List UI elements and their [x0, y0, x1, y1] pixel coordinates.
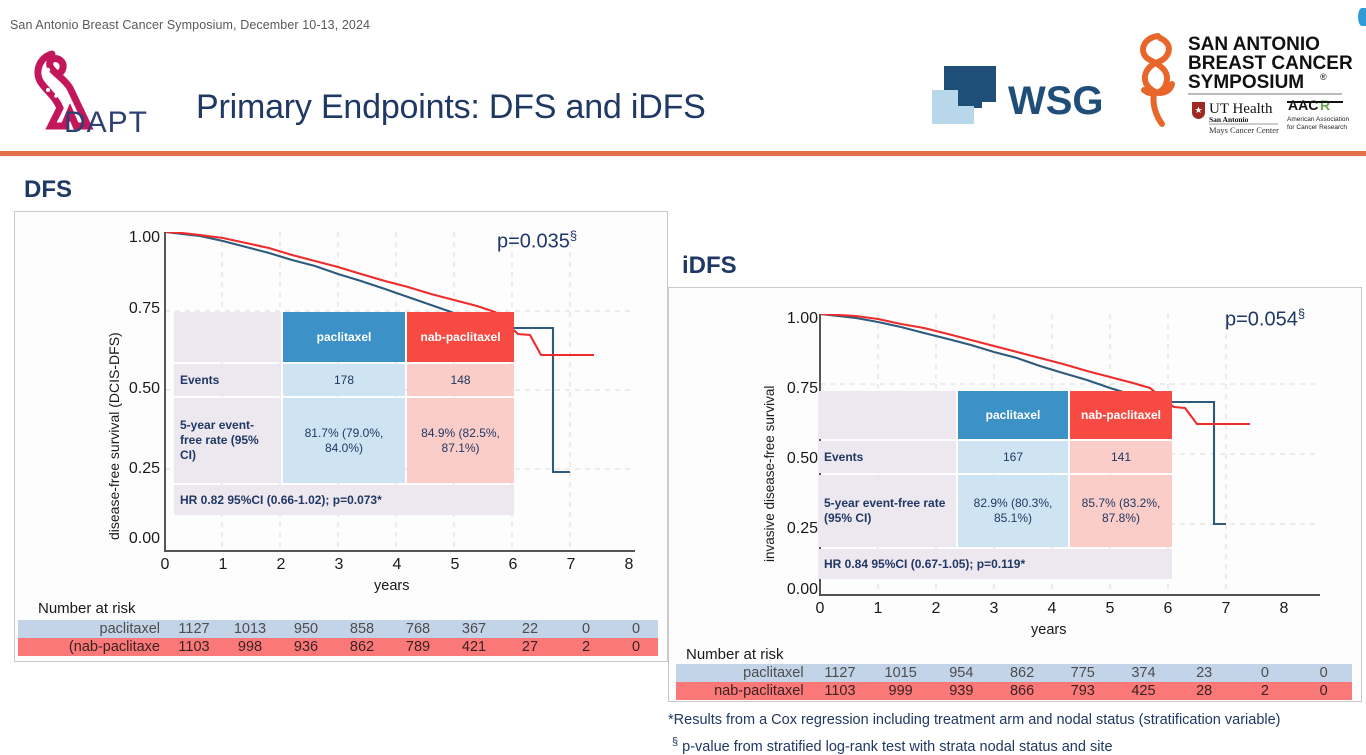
- svg-text:DAPT: DAPT: [64, 106, 148, 139]
- dfs-row-label-5yr-rate: 5-year event-free rate (95% CI): [174, 398, 281, 483]
- dfs-risk-nab-8: 0: [614, 638, 658, 656]
- idfs-pvalue: p=0.054§: [1225, 306, 1305, 332]
- idfs-risk-nab-7: 2: [1235, 682, 1296, 700]
- idfs-hr-row: HR 0.84 95%CI (0.67-1.05); p=0.119*: [818, 549, 1172, 579]
- dfs-risk-pac-8: 0: [614, 620, 658, 638]
- dfs-risk-pac-0: 1127: [166, 620, 222, 638]
- dfs-risk-nab-0: 1103: [166, 638, 222, 656]
- table-row: HR 0.84 95%CI (0.67-1.05); p=0.119*: [818, 549, 1172, 579]
- idfs-risk-nab-6: 28: [1174, 682, 1235, 700]
- dfs-risk-pac-5: 367: [446, 620, 502, 638]
- dfs-number-at-risk-title: Number at risk: [38, 600, 136, 617]
- idfs-xtick-4: 4: [1040, 600, 1064, 618]
- svg-text:R: R: [1320, 97, 1330, 113]
- dfs-x-axis-label: years: [374, 578, 409, 594]
- idfs-xtick-2: 2: [924, 600, 948, 618]
- dfs-hr-row: HR 0.82 95%CI (0.66-1.02); p=0.073*: [174, 485, 514, 515]
- svg-text:BREAST CANCER: BREAST CANCER: [1188, 53, 1353, 74]
- dfs-risk-pac-3: 858: [334, 620, 390, 638]
- dfs-risk-pac-7: 0: [558, 620, 614, 638]
- dfs-stats-table: paclitaxel nab-paclitaxel Events 178 148…: [172, 310, 516, 517]
- idfs-xtick-5: 5: [1098, 600, 1122, 618]
- idfs-xtick-3: 3: [982, 600, 1006, 618]
- idfs-header-nab-paclitaxel: nab-paclitaxel: [1070, 391, 1172, 439]
- idfs-ytick-0.00: 0.00: [770, 581, 818, 599]
- idfs-x-axis-line: [819, 594, 1320, 596]
- dfs-ytick-0.25: 0.25: [110, 460, 160, 478]
- idfs-corner-cell: [818, 391, 956, 439]
- wsg-logo: WSG: [930, 62, 1110, 137]
- dfs-risk-pac-4: 768: [390, 620, 446, 638]
- table-row: 5-year event-free rate (95% CI) 81.7% (7…: [174, 398, 514, 483]
- dfs-ytick-0.75: 0.75: [110, 300, 160, 318]
- idfs-risk-pac-4: 775: [1052, 664, 1113, 682]
- dfs-y-axis-label: disease-free survival (DCIS-DFS): [106, 332, 122, 540]
- table-row: nab-paclitaxel 1103 999 939 866 793 425 …: [676, 682, 1352, 700]
- idfs-risk-label-nab: nab-paclitaxel: [676, 682, 810, 700]
- idfs-risk-pac-7: 0: [1235, 664, 1296, 682]
- table-row: paclitaxel 1127 1013 950 858 768 367 22 …: [18, 620, 658, 638]
- idfs-row-label-events: Events: [818, 441, 956, 473]
- dfs-5yr-paclitaxel: 81.7% (79.0%, 84.0%): [283, 398, 405, 483]
- idfs-risk-pac-2: 954: [931, 664, 992, 682]
- idfs-risk-nab-4: 793: [1052, 682, 1113, 700]
- table-row: paclitaxel nab-paclitaxel: [818, 391, 1172, 439]
- dfs-ytick-0.00: 0.00: [110, 530, 160, 548]
- table-row: (nab-paclitaxe 1103 998 936 862 789 421 …: [18, 638, 658, 656]
- conference-line: San Antonio Breast Cancer Symposium, Dec…: [10, 18, 370, 32]
- idfs-xtick-8: 8: [1272, 600, 1296, 618]
- dfs-risk-pac-2: 950: [278, 620, 334, 638]
- idfs-xtick-1: 1: [866, 600, 890, 618]
- idfs-risk-label-paclitaxel: paclitaxel: [676, 664, 810, 682]
- table-row: 5-year event-free rate (95% CI) 82.9% (8…: [818, 475, 1172, 547]
- idfs-risk-nab-1: 999: [870, 682, 931, 700]
- dfs-risk-nab-1: 998: [222, 638, 278, 656]
- table-row: paclitaxel nab-paclitaxel: [174, 312, 514, 362]
- idfs-risk-pac-6: 23: [1174, 664, 1235, 682]
- idfs-ytick-0.25: 0.25: [770, 520, 818, 538]
- dfs-events-paclitaxel: 178: [283, 364, 405, 396]
- footnote-logrank: § p-value from stratified log-rank test …: [672, 736, 1113, 755]
- header-divider: [0, 151, 1366, 156]
- svg-text:San Antonio: San Antonio: [1209, 115, 1249, 124]
- dfs-number-at-risk-table: paclitaxel 1127 1013 950 858 768 367 22 …: [18, 620, 658, 656]
- dfs-risk-pac-1: 1013: [222, 620, 278, 638]
- idfs-events-nab: 141: [1070, 441, 1172, 473]
- dfs-risk-nab-6: 27: [502, 638, 558, 656]
- svg-text:American Association: American Association: [1287, 116, 1350, 123]
- table-row: Events 178 148: [174, 364, 514, 396]
- idfs-stats-table: paclitaxel nab-paclitaxel Events 167 141…: [816, 389, 1174, 581]
- dfs-xtick-7: 7: [559, 556, 583, 574]
- svg-text:for Cancer Research: for Cancer Research: [1287, 124, 1347, 131]
- dfs-events-nab: 148: [407, 364, 514, 396]
- adapt-logo: DAPT: [18, 50, 158, 145]
- table-row: Events 167 141: [818, 441, 1172, 473]
- dfs-risk-nab-2: 936: [278, 638, 334, 656]
- dfs-row-label-events: Events: [174, 364, 281, 396]
- idfs-events-paclitaxel: 167: [958, 441, 1068, 473]
- idfs-xtick-7: 7: [1214, 600, 1238, 618]
- svg-text:★: ★: [1195, 105, 1203, 115]
- idfs-ytick-0.75: 0.75: [770, 380, 818, 398]
- dfs-risk-label-paclitaxel: paclitaxel: [18, 620, 166, 638]
- dfs-5yr-nab: 84.9% (82.5%, 87.1%): [407, 398, 514, 483]
- idfs-panel-label: iDFS: [682, 252, 737, 280]
- dfs-panel-label: DFS: [24, 176, 72, 204]
- svg-text:®: ®: [1320, 72, 1327, 82]
- idfs-risk-nab-5: 425: [1113, 682, 1174, 700]
- dfs-xtick-8: 8: [617, 556, 641, 574]
- page-title: Primary Endpoints: DFS and iDFS: [196, 88, 706, 127]
- dfs-xtick-1: 1: [211, 556, 235, 574]
- idfs-xtick-0: 0: [808, 600, 832, 618]
- dfs-risk-nab-5: 421: [446, 638, 502, 656]
- dfs-risk-nab-4: 789: [390, 638, 446, 656]
- idfs-xtick-6: 6: [1156, 600, 1180, 618]
- idfs-risk-nab-3: 866: [992, 682, 1053, 700]
- dfs-ytick-0.50: 0.50: [110, 380, 160, 398]
- table-row: paclitaxel 1127 1015 954 862 775 374 23 …: [676, 664, 1352, 682]
- dfs-header-nab-paclitaxel: nab-paclitaxel: [407, 312, 514, 362]
- idfs-risk-pac-8: 0: [1295, 664, 1352, 682]
- dfs-pvalue: p=0.035§: [497, 228, 577, 254]
- dfs-x-axis-line: [164, 550, 635, 552]
- svg-text:SYMPOSIUM: SYMPOSIUM: [1188, 72, 1304, 93]
- idfs-ytick-0.50: 0.50: [770, 450, 818, 468]
- idfs-row-label-5yr-rate: 5-year event-free rate (95% CI): [818, 475, 956, 547]
- idfs-5yr-nab: 85.7% (83.2%, 87.8%): [1070, 475, 1172, 547]
- corner-accent-icon: [1358, 8, 1366, 26]
- svg-text:SAN ANTONIO: SAN ANTONIO: [1188, 34, 1320, 55]
- idfs-risk-nab-2: 939: [931, 682, 992, 700]
- dfs-xtick-6: 6: [501, 556, 525, 574]
- idfs-5yr-paclitaxel: 82.9% (80.3%, 85.1%): [958, 475, 1068, 547]
- dfs-xtick-5: 5: [443, 556, 467, 574]
- idfs-header-paclitaxel: paclitaxel: [958, 391, 1068, 439]
- footnote-cox-regression: *Results from a Cox regression including…: [668, 712, 1281, 728]
- idfs-number-at-risk-title: Number at risk: [686, 646, 784, 663]
- dfs-risk-pac-6: 22: [502, 620, 558, 638]
- idfs-risk-nab-8: 0: [1295, 682, 1352, 700]
- dfs-ytick-1.00: 1.00: [110, 229, 160, 247]
- idfs-risk-pac-5: 374: [1113, 664, 1174, 682]
- svg-text:WSG: WSG: [1008, 79, 1104, 123]
- idfs-risk-pac-3: 862: [992, 664, 1053, 682]
- idfs-risk-pac-1: 1015: [870, 664, 931, 682]
- svg-text:AAC: AAC: [1288, 97, 1318, 113]
- dfs-y-axis-line: [164, 232, 166, 550]
- idfs-risk-nab-0: 1103: [810, 682, 871, 700]
- svg-text:Mays Cancer Center: Mays Cancer Center: [1209, 125, 1279, 135]
- idfs-number-at-risk-table: paclitaxel 1127 1015 954 862 775 374 23 …: [676, 664, 1352, 700]
- dfs-risk-nab-3: 862: [334, 638, 390, 656]
- dfs-corner-cell: [174, 312, 281, 362]
- dfs-xtick-0: 0: [153, 556, 177, 574]
- idfs-x-axis-label: years: [1031, 622, 1066, 638]
- dfs-risk-label-nab: (nab-paclitaxe: [18, 638, 166, 656]
- table-row: HR 0.82 95%CI (0.66-1.02); p=0.073*: [174, 485, 514, 515]
- idfs-risk-pac-0: 1127: [810, 664, 871, 682]
- dfs-risk-nab-7: 2: [558, 638, 614, 656]
- idfs-ytick-1.00: 1.00: [770, 310, 818, 328]
- dfs-xtick-3: 3: [327, 556, 351, 574]
- dfs-xtick-2: 2: [269, 556, 293, 574]
- dfs-xtick-4: 4: [385, 556, 409, 574]
- dfs-header-paclitaxel: paclitaxel: [283, 312, 405, 362]
- sabcs-logo: SAN ANTONIO BREAST CANCER SYMPOSIUM ® ★ …: [1130, 28, 1355, 138]
